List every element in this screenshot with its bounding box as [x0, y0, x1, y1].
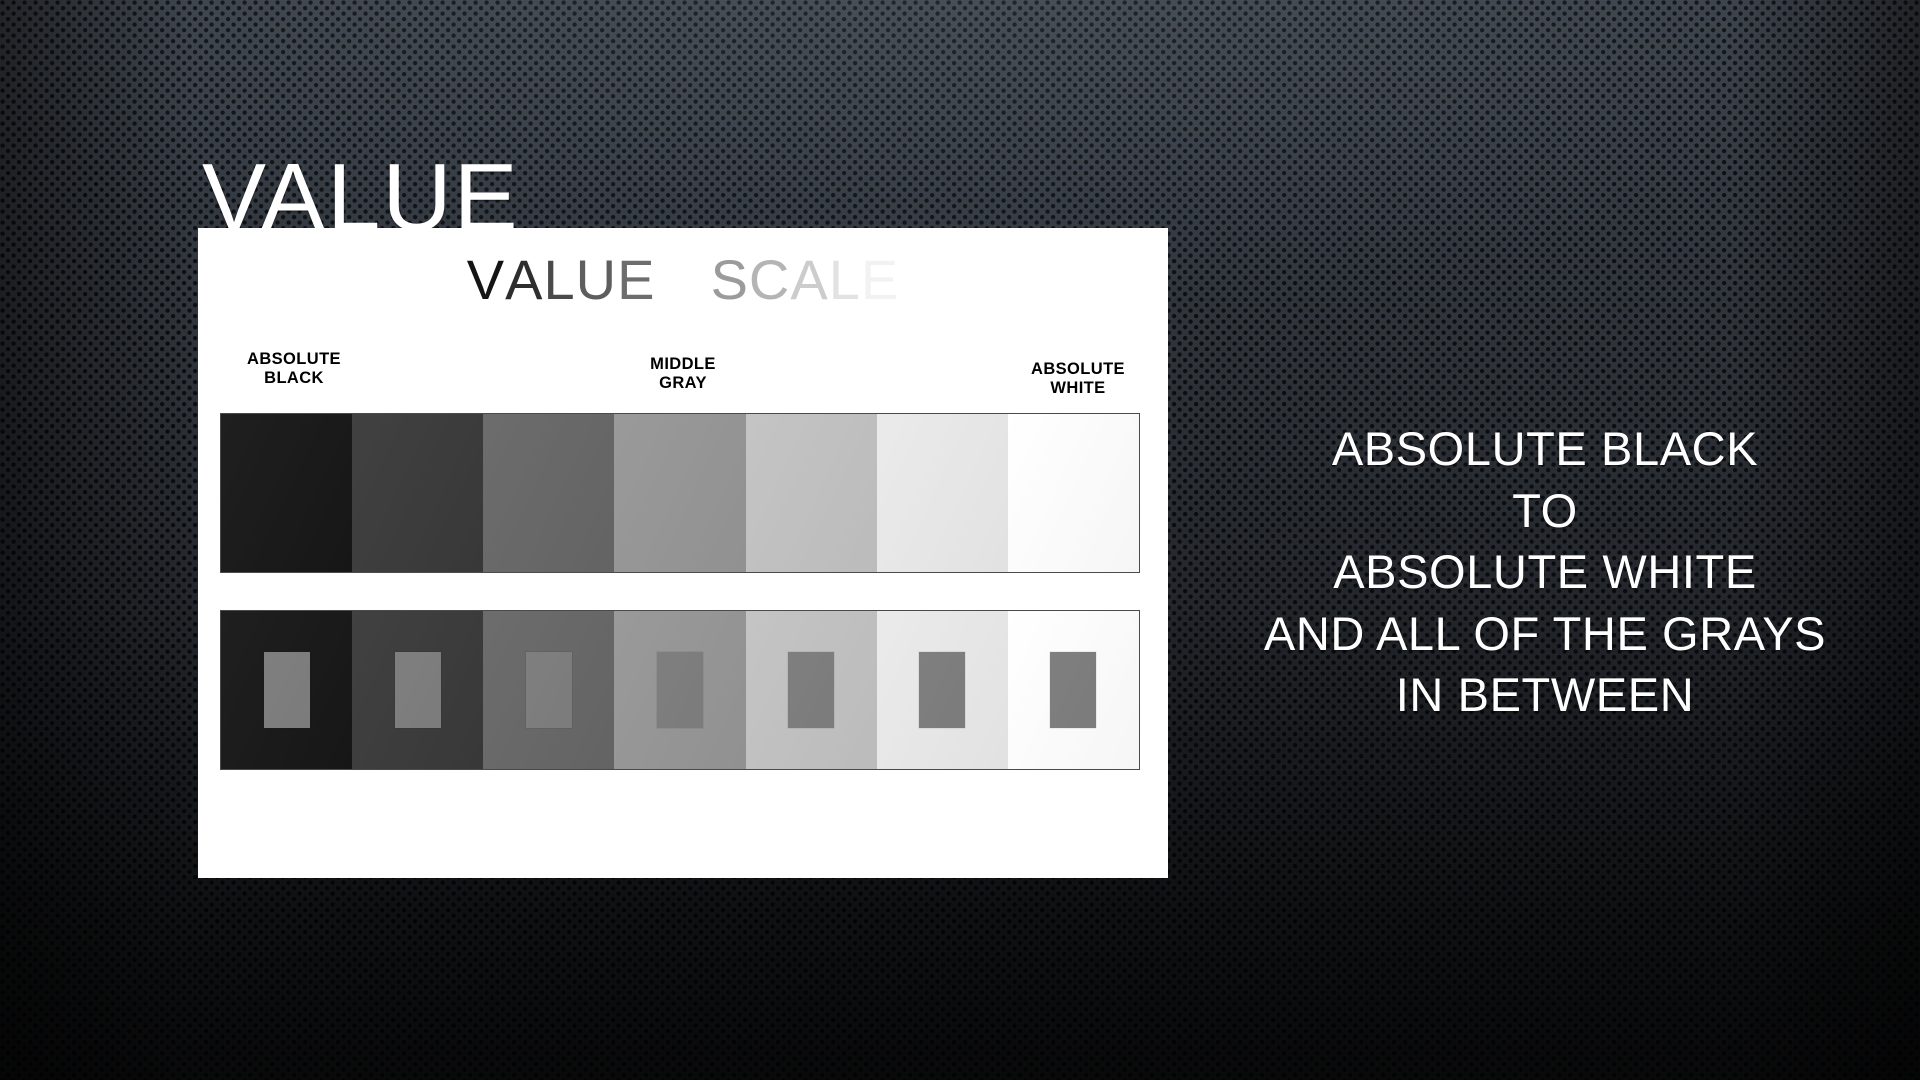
caption-line: AND ALL OF THE GRAYS	[1215, 603, 1875, 665]
heading-letter: E	[617, 252, 655, 308]
value-swatch-mid-light-gray	[746, 414, 877, 572]
caption-line: ABSOLUTE BLACK	[1215, 418, 1875, 480]
inner-middle-gray-square	[395, 652, 441, 728]
value-scale-heading-word-scale: SCALE	[711, 252, 900, 308]
value-scale-heading: VALUE SCALE	[198, 252, 1168, 308]
value-scale-image-panel: VALUE SCALE ABSOLUTE BLACK MIDDLE GRAY A…	[198, 228, 1168, 878]
value-scale-strip-with-squares	[220, 610, 1140, 770]
label-absolute-white-line2: WHITE	[988, 379, 1168, 398]
slide-canvas: VALUE VALUE SCALE ABSOLUTE BLACK MIDDLE …	[0, 0, 1920, 1080]
value-swatch-with-square-dark-gray	[352, 611, 483, 769]
heading-letter: L	[543, 252, 575, 308]
value-swatch-mid-dark-gray	[483, 414, 614, 572]
value-swatch-middle-gray	[614, 414, 745, 572]
inner-middle-gray-square	[657, 652, 703, 728]
heading-letter: U	[576, 252, 617, 308]
value-swatch-with-square-absolute-white	[1008, 611, 1139, 769]
value-swatch-with-square-mid-dark-gray	[483, 611, 614, 769]
inner-middle-gray-square	[1050, 652, 1096, 728]
inner-middle-gray-square	[526, 652, 572, 728]
inner-middle-gray-square	[919, 652, 965, 728]
heading-letter: S	[711, 252, 749, 308]
label-middle-gray-line1: MIDDLE	[593, 355, 773, 374]
caption-text-block: ABSOLUTE BLACKTOABSOLUTE WHITEAND ALL OF…	[1215, 418, 1875, 726]
label-absolute-black-line2: BLACK	[204, 369, 384, 388]
heading-letter: C	[749, 252, 790, 308]
value-scale-strip-plain	[220, 413, 1140, 573]
heading-letter: L	[829, 252, 861, 308]
heading-letter: A	[505, 252, 543, 308]
heading-letter: V	[467, 252, 505, 308]
label-middle-gray: MIDDLE GRAY	[593, 355, 773, 394]
label-absolute-white: ABSOLUTE WHITE	[988, 360, 1168, 399]
value-scale-labels: ABSOLUTE BLACK MIDDLE GRAY ABSOLUTE WHIT…	[198, 348, 1168, 404]
value-swatch-dark-gray	[352, 414, 483, 572]
caption-line: TO	[1215, 480, 1875, 542]
caption-line: ABSOLUTE WHITE	[1215, 541, 1875, 603]
caption-line: IN BETWEEN	[1215, 664, 1875, 726]
value-swatch-light-gray	[877, 414, 1008, 572]
value-swatch-absolute-black	[221, 414, 352, 572]
label-absolute-black: ABSOLUTE BLACK	[204, 350, 384, 389]
inner-middle-gray-square	[788, 652, 834, 728]
inner-middle-gray-square	[264, 652, 310, 728]
label-absolute-white-line1: ABSOLUTE	[988, 360, 1168, 379]
label-middle-gray-line2: GRAY	[593, 374, 773, 393]
value-swatch-with-square-light-gray	[877, 611, 1008, 769]
value-swatch-with-square-middle-gray	[614, 611, 745, 769]
heading-letter: E	[861, 252, 899, 308]
value-swatch-with-square-mid-light-gray	[746, 611, 877, 769]
value-swatch-with-square-absolute-black	[221, 611, 352, 769]
value-swatch-absolute-white	[1008, 414, 1139, 572]
value-scale-heading-word-value: VALUE	[467, 252, 656, 308]
label-absolute-black-line1: ABSOLUTE	[204, 350, 384, 369]
heading-letter: A	[790, 252, 828, 308]
